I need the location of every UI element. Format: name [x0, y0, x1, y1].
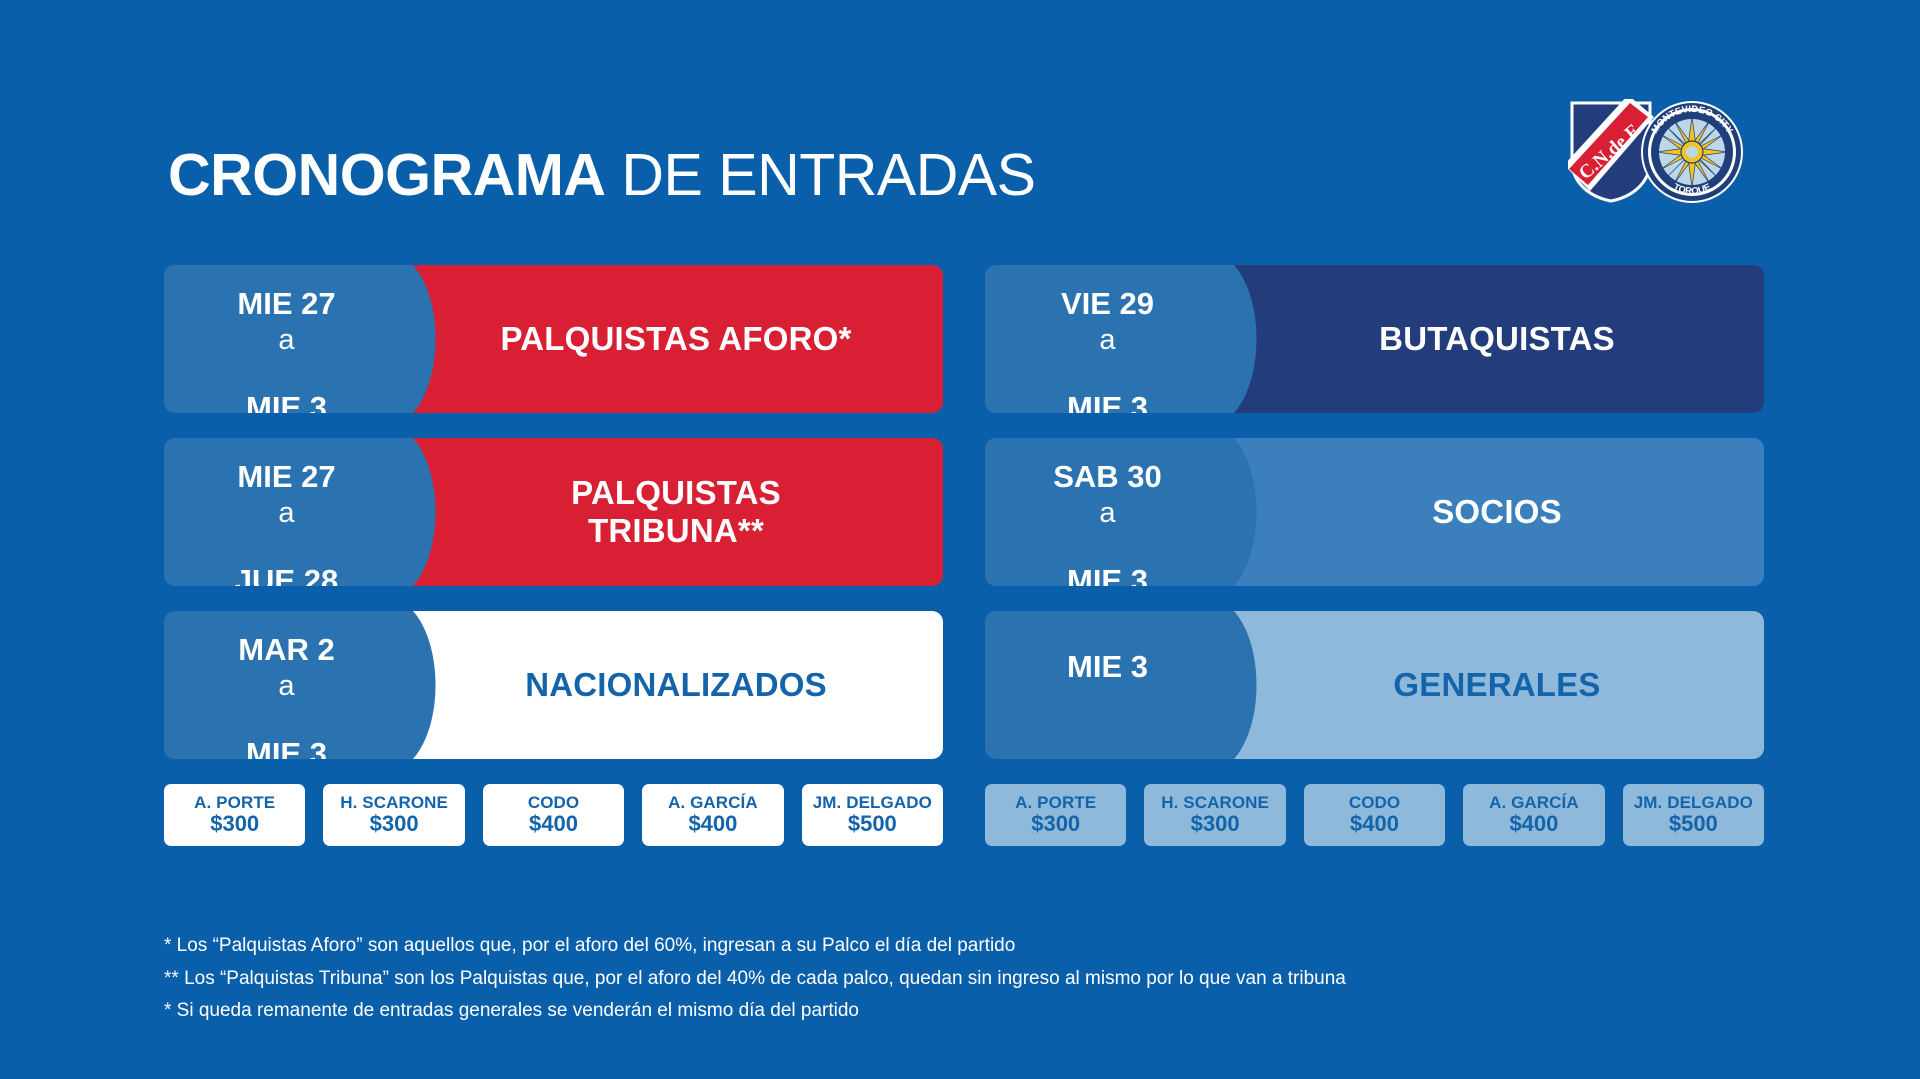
card-dates-text: SAB 30 a MIE 3 [1053, 438, 1162, 586]
logos-group: C.N.de F. [1568, 93, 1788, 213]
card-date-line-1: MIE 27 [237, 459, 335, 494]
footnote: ** Los “Palquistas Tribuna” son los Palq… [164, 963, 1804, 996]
card-label: NACIONALIZADOS [409, 611, 943, 759]
card-date-line-1: VIE 29 [1061, 286, 1154, 321]
card-label-text: PALQUISTAS AFORO* [500, 320, 851, 358]
footnote: * Los “Palquistas Aforo” son aquellos qu… [164, 930, 1804, 963]
card-label-text: BUTAQUISTAS [1379, 320, 1615, 358]
price-chips-right: A. PORTE $300 H. SCARONE $300 CODO $400 … [985, 784, 1764, 846]
schedule-card-generales[interactable]: MIE 3 GENERALES [985, 611, 1764, 759]
card-date-suffix: a [1099, 324, 1115, 356]
card-dates: MIE 27 a MIE 3 [164, 265, 409, 413]
card-date-line-2: MIE 3 [246, 390, 327, 413]
price-chip-name: CODO [528, 793, 579, 812]
card-label: BUTAQUISTAS [1230, 265, 1764, 413]
card-dates-text: MIE 27 a MIE 3 [237, 265, 335, 413]
price-chip[interactable]: CODO $400 [1304, 784, 1445, 846]
footnotes: * Los “Palquistas Aforo” son aquellos qu… [164, 930, 1804, 1028]
price-chip-name: A. GARCÍA [1489, 793, 1579, 812]
card-date-line-1: MIE 27 [237, 286, 335, 321]
card-dates-text: MAR 2 a MIE 3 [238, 611, 334, 759]
card-dates: VIE 29 a MIE 3 [985, 265, 1230, 413]
card-date-line-1: MIE 3 [1067, 649, 1148, 684]
card-label-text: GENERALES [1393, 666, 1600, 704]
card-dates-text: MIE 27 a JUE 28 [235, 438, 338, 586]
price-chip-name: A. PORTE [194, 793, 275, 812]
price-chip[interactable]: JM. DELGADO $500 [802, 784, 943, 846]
schedule-card-palquistas-tribuna[interactable]: MIE 27 a JUE 28 PALQUISTAS TRIBUNA** [164, 438, 943, 586]
price-chip-name: H. SCARONE [1161, 793, 1269, 812]
schedule-row: MIE 27 a JUE 28 PALQUISTAS TRIBUNA** SAB… [164, 438, 1764, 586]
price-chip[interactable]: A. GARCÍA $400 [1463, 784, 1604, 846]
price-chip-name: A. PORTE [1015, 793, 1096, 812]
price-chip[interactable]: A. PORTE $300 [985, 784, 1126, 846]
card-date-suffix: a [278, 497, 294, 529]
price-chips-section: A. PORTE $300 H. SCARONE $300 CODO $400 … [164, 784, 1764, 846]
card-dates-text: MIE 3 [1067, 616, 1148, 755]
price-chip-value: $400 [688, 812, 737, 837]
price-chip-value: $400 [1509, 812, 1558, 837]
card-date-line-2: MIE 3 [1067, 563, 1148, 586]
price-chip[interactable]: H. SCARONE $300 [1144, 784, 1285, 846]
price-chip-name: JM. DELGADO [813, 793, 932, 812]
page-title-light: DE ENTRADAS [605, 142, 1035, 208]
schedule-row: MIE 27 a MIE 3 PALQUISTAS AFORO* VIE 29 [164, 265, 1764, 413]
footnote: * Si queda remanente de entradas general… [164, 995, 1804, 1028]
schedule-row: MAR 2 a MIE 3 NACIONALIZADOS MIE 3 [164, 611, 1764, 759]
price-chip-value: $300 [370, 812, 419, 837]
card-date-suffix: a [278, 324, 294, 356]
poster-header: CRONOGRAMA DE ENTRADAS C.N.de F. [168, 135, 1788, 215]
schedule-card-palquistas-aforo[interactable]: MIE 27 a MIE 3 PALQUISTAS AFORO* [164, 265, 943, 413]
card-date-line-2: MIE 3 [1067, 390, 1148, 413]
schedule-grid: MIE 27 a MIE 3 PALQUISTAS AFORO* VIE 29 [164, 265, 1764, 846]
price-chip-name: A. GARCÍA [668, 793, 758, 812]
card-label-text: PALQUISTAS TRIBUNA** [571, 474, 781, 549]
card-label: PALQUISTAS TRIBUNA** [409, 438, 943, 586]
card-dates: MIE 27 a JUE 28 [164, 438, 409, 586]
card-label: GENERALES [1230, 611, 1764, 759]
card-date-suffix: a [1099, 497, 1115, 529]
page-title-bold: CRONOGRAMA [168, 142, 605, 208]
schedule-card-butaquistas[interactable]: VIE 29 a MIE 3 BUTAQUISTAS [985, 265, 1764, 413]
card-date-suffix: a [278, 670, 294, 702]
card-date-line-2: MIE 3 [246, 736, 327, 759]
schedule-card-nacionalizados[interactable]: MAR 2 a MIE 3 NACIONALIZADOS [164, 611, 943, 759]
card-label: PALQUISTAS AFORO* [409, 265, 943, 413]
price-chip-name: CODO [1349, 793, 1400, 812]
price-chip[interactable]: CODO $400 [483, 784, 624, 846]
card-label-text: SOCIOS [1432, 493, 1562, 531]
cronograma-poster: CRONOGRAMA DE ENTRADAS C.N.de F. [0, 0, 1920, 1079]
card-date-line-2: JUE 28 [235, 563, 338, 586]
price-chip[interactable]: A. GARCÍA $400 [642, 784, 783, 846]
card-dates-text: VIE 29 a MIE 3 [1061, 265, 1154, 413]
price-chip-value: $500 [848, 812, 897, 837]
card-label: SOCIOS [1230, 438, 1764, 586]
price-chip-value: $300 [1191, 812, 1240, 837]
card-date-line-1: MAR 2 [238, 632, 334, 667]
price-chip-value: $400 [529, 812, 578, 837]
price-chip[interactable]: JM. DELGADO $500 [1623, 784, 1764, 846]
price-chip-value: $300 [210, 812, 259, 837]
card-dates: MAR 2 a MIE 3 [164, 611, 409, 759]
montevideo-city-torque-logo: MONTEVIDEO CITY TORQUE [1640, 100, 1744, 204]
price-chips-left: A. PORTE $300 H. SCARONE $300 CODO $400 … [164, 784, 943, 846]
price-chip[interactable]: A. PORTE $300 [164, 784, 305, 846]
card-dates: SAB 30 a MIE 3 [985, 438, 1230, 586]
schedule-card-socios[interactable]: SAB 30 a MIE 3 SOCIOS [985, 438, 1764, 586]
price-chip-value: $300 [1031, 812, 1080, 837]
card-dates: MIE 3 [985, 611, 1230, 759]
price-chip-name: JM. DELGADO [1634, 793, 1753, 812]
card-date-line-1: SAB 30 [1053, 459, 1162, 494]
price-chip-name: H. SCARONE [340, 793, 448, 812]
price-chip-value: $500 [1669, 812, 1718, 837]
price-chip-value: $400 [1350, 812, 1399, 837]
card-label-text: NACIONALIZADOS [525, 666, 827, 704]
page-title: CRONOGRAMA DE ENTRADAS [168, 146, 1036, 205]
price-chip[interactable]: H. SCARONE $300 [323, 784, 464, 846]
